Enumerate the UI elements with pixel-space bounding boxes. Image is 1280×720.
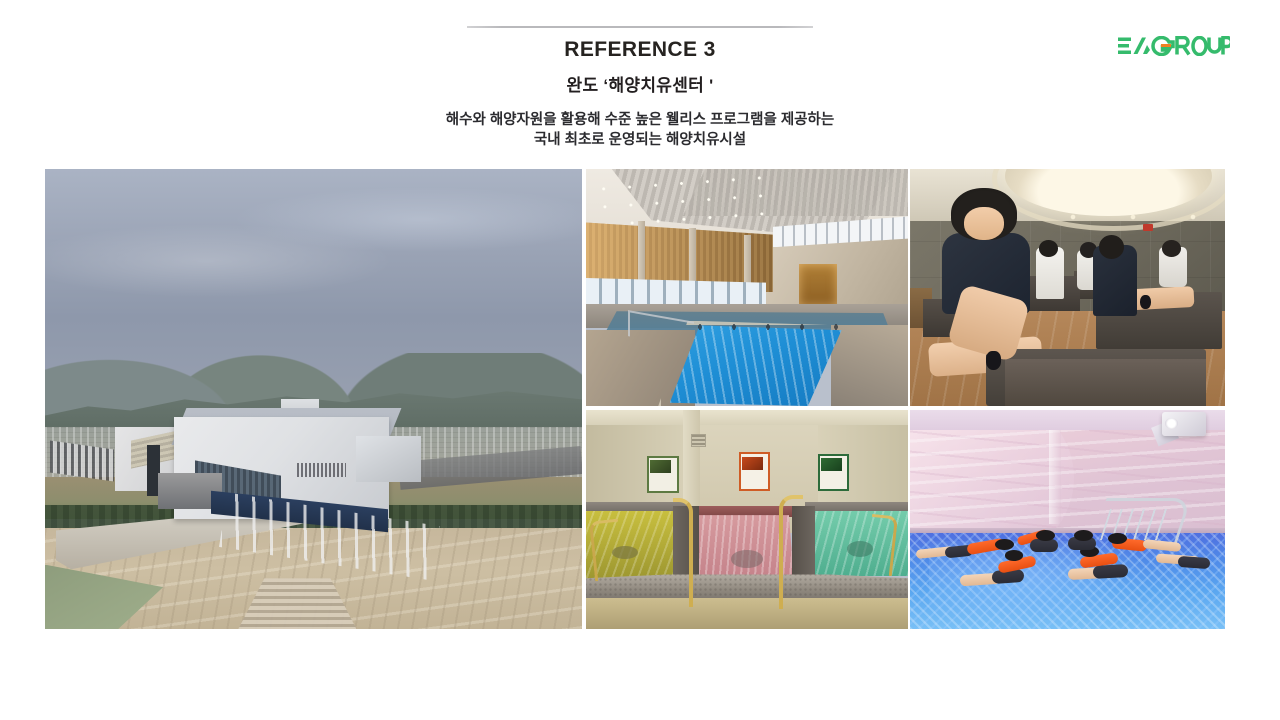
page-description-line-2: 국내 최초로 운영되는 해양치유시설 xyxy=(0,131,1280,151)
page-description: 해수와 해양자원을 활용해 수준 높은 웰리스 프로그램을 제공하는 국내 최초… xyxy=(0,111,1280,150)
photo-gallery: 완도 해양치유센터 전경 항공사진 xyxy=(45,169,1225,629)
photo-aerial-marine-healing-center: 완도 해양치유센터 전경 항공사진 xyxy=(45,169,582,629)
slide-reference-3: REFERENCE 3 완도 ‘해양치유센터 ' 해수와 해양자원을 활용해 수… xyxy=(0,0,1280,720)
photo-color-therapy-baths: 색상별 치유 온탕 3기 xyxy=(586,410,908,629)
photo-indoor-seawater-pool: 실내 해수풀 전경 xyxy=(586,169,908,406)
ea-group-logo: EA GROUP xyxy=(1118,36,1230,56)
page-title: 완도 ‘해양치유센터 ' xyxy=(0,74,1280,98)
photo-floating-program-pool: 플로팅 프로그램 체험 풀 xyxy=(910,410,1225,629)
photo-massage-therapy-room: 해양치유 마사지 테라피실 xyxy=(910,169,1225,406)
ea-group-logo-icon xyxy=(1118,36,1230,56)
page-eyebrow: REFERENCE 3 xyxy=(0,37,1280,63)
page-description-line-1: 해수와 해양자원을 활용해 수준 높은 웰리스 프로그램을 제공하는 xyxy=(0,111,1280,131)
header-divider xyxy=(467,26,813,28)
